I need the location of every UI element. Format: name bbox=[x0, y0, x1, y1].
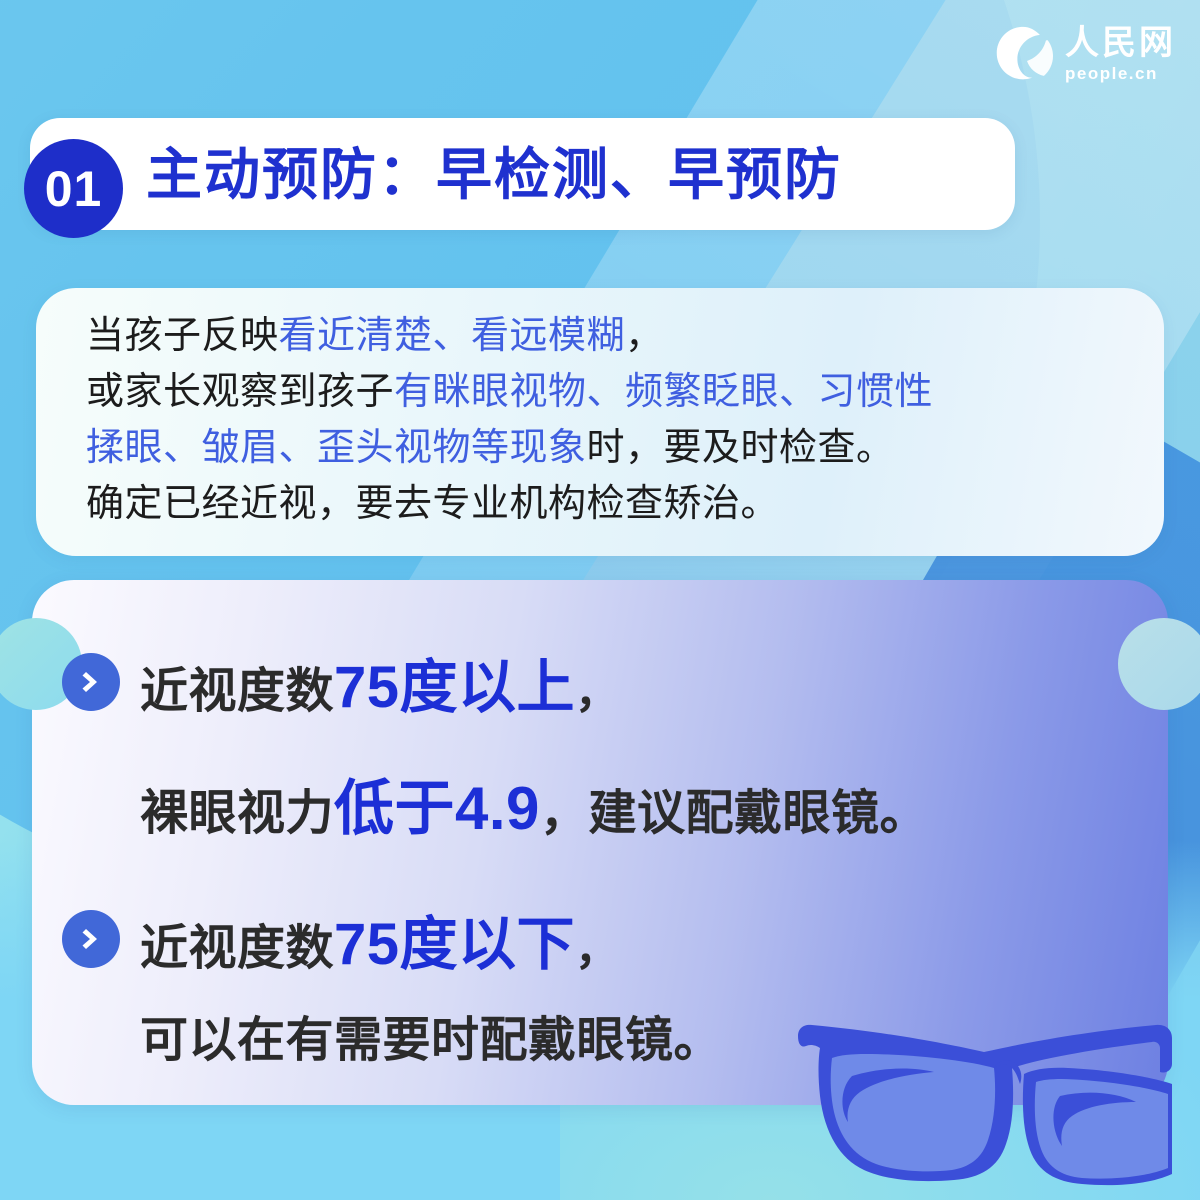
section-number-badge: 01 bbox=[24, 139, 123, 238]
section-title-text: 主动预防：早检测、早预防 bbox=[146, 137, 1006, 213]
chevron-right-icon bbox=[62, 910, 120, 968]
bullet-2-subtext: 可以在有需要时配戴眼镜。 bbox=[140, 1000, 722, 1070]
logo-wordmark: 人民网 people.cn bbox=[1065, 27, 1176, 82]
bullet-2-emphasis: 75度以下 bbox=[334, 912, 575, 977]
infographic-poster: 人民网 people.cn 01 主动预防：早检测、早预防 当孩子反映看近清楚、… bbox=[0, 0, 1200, 1200]
bullet-2-suffix: ， bbox=[575, 925, 620, 974]
people-cn-globe-icon bbox=[993, 24, 1053, 84]
paragraph-line-4-run-1: 确定已经近视，要去专业机构检查矫治。 bbox=[86, 483, 779, 525]
bullet-2-prefix: 近视度数 bbox=[140, 922, 334, 975]
logo-english-text: people.cn bbox=[1065, 65, 1176, 82]
paragraph-line-3-run-2: 时，要及时检查。 bbox=[587, 427, 895, 469]
bullet-1-heading: 近视度数75度以上， bbox=[140, 640, 620, 724]
bullet-1-sub-emphasis: 低于4.9 bbox=[334, 775, 540, 842]
paragraph-text: 当孩子反映看近清楚、看远模糊，或家长观察到孩子有眯眼视物、频繁眨眼、习惯性揉眼、… bbox=[86, 308, 1116, 532]
bullet-item-2: 近视度数75度以下， bbox=[62, 897, 620, 981]
bullet-1-prefix: 近视度数 bbox=[140, 665, 334, 718]
paragraph-line-4: 确定已经近视，要去专业机构检查矫治。 bbox=[86, 476, 1116, 532]
bullet-1-sub-suffix: ，建议配戴眼镜。 bbox=[540, 787, 928, 840]
people-cn-logo: 人民网 people.cn bbox=[993, 24, 1176, 84]
bullet-1-suffix: ， bbox=[575, 668, 620, 717]
bullet-2-heading: 近视度数75度以下， bbox=[140, 897, 620, 981]
bullet-2-sub-suffix: 可以在有需要时配戴眼镜。 bbox=[140, 1014, 722, 1067]
bullet-1-emphasis: 75度以上 bbox=[334, 655, 575, 720]
card-notch-right bbox=[1118, 618, 1200, 710]
paragraph-line-2: 或家长观察到孩子有眯眼视物、频繁眨眼、习惯性 bbox=[86, 364, 1116, 420]
paragraph-line-2-run-2: 有眯眼视物、频繁眨眼、习惯性 bbox=[394, 371, 933, 413]
paragraph-line-1-run-1: 当孩子反映 bbox=[86, 315, 279, 357]
paragraph-line-3: 揉眼、皱眉、歪头视物等现象时，要及时检查。 bbox=[86, 420, 1116, 476]
chevron-right-icon bbox=[62, 653, 120, 711]
paragraph-line-1-run-2: 看近清楚、看远模糊 bbox=[279, 315, 626, 357]
bullet-1-sub-prefix: 裸眼视力 bbox=[140, 787, 334, 840]
paragraph-line-1: 当孩子反映看近清楚、看远模糊， bbox=[86, 308, 1116, 364]
paragraph-line-1-run-3: ， bbox=[625, 315, 664, 357]
bullet-item-1: 近视度数75度以上， bbox=[62, 640, 620, 724]
logo-chinese-text: 人民网 bbox=[1065, 27, 1176, 61]
bullet-1-subtext: 裸眼视力低于4.9，建议配戴眼镜。 bbox=[140, 760, 928, 847]
paragraph-line-3-run-1: 揉眼、皱眉、歪头视物等现象 bbox=[86, 427, 587, 469]
paragraph-line-2-run-1: 或家长观察到孩子 bbox=[86, 371, 394, 413]
